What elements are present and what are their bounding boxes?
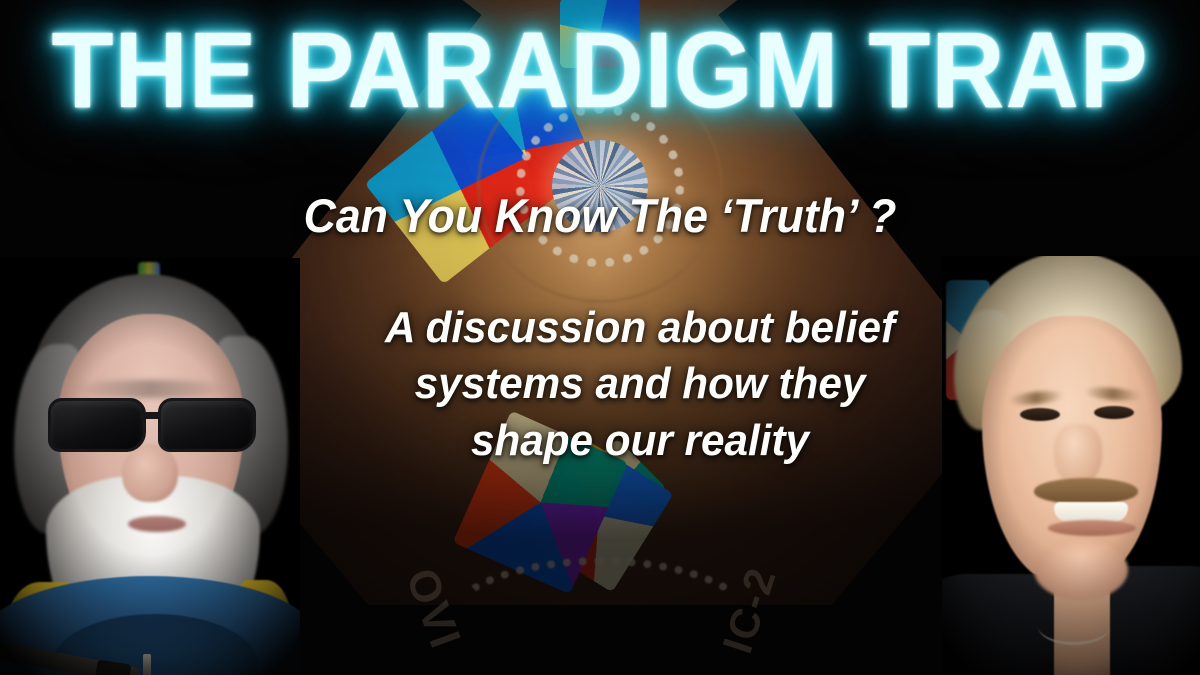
subtitle: Can You Know The ‘Truth’ ? [30, 188, 1170, 243]
description-line-3: shape our reality [314, 413, 967, 469]
thumbnail-canvas: OVI IC-2 THE PARADIGM TRAP Can You Know … [0, 0, 1200, 675]
dark-band-bottom-center [320, 605, 880, 675]
description-text: A discussion about belief systems and ho… [314, 300, 967, 469]
right-speaker-portrait [942, 256, 1200, 675]
portrait-vignette [0, 258, 300, 675]
portrait-vignette [942, 256, 1200, 675]
description-line-2: systems and how they [314, 356, 967, 412]
description-line-1: A discussion about belief [314, 300, 967, 356]
left-speaker-portrait [0, 258, 300, 675]
main-title: THE PARADIGM TRAP [36, 16, 1164, 124]
